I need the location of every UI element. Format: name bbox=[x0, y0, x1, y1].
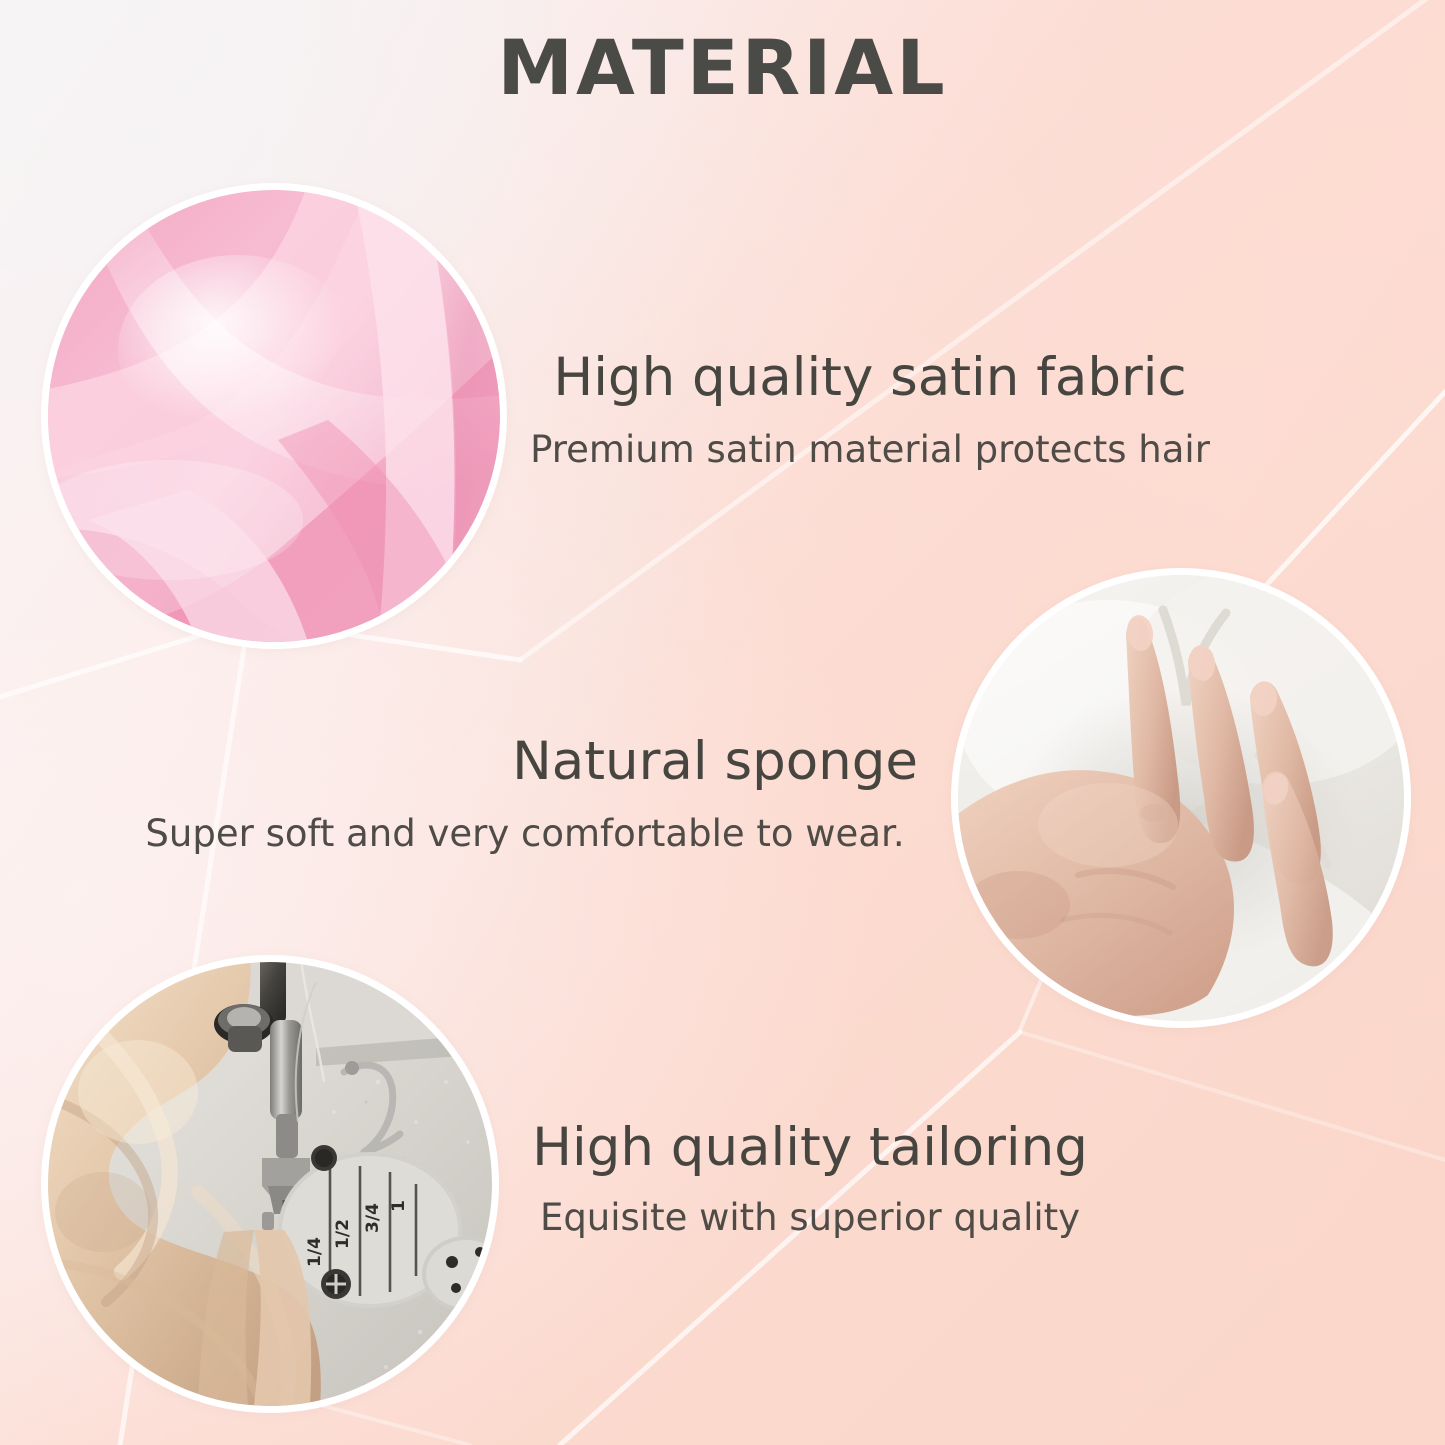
feature-text-natural-sponge: Natural sponge Super soft and very comfo… bbox=[120, 732, 930, 857]
feature-title-natural-sponge: Natural sponge bbox=[120, 732, 930, 792]
sewing-machine-illustration: 1 3/4 1/2 1/4 bbox=[48, 962, 492, 1406]
feature-text-tailoring: High quality tailoring Equisite with sup… bbox=[470, 1118, 1150, 1241]
feature-subtitle-satin-fabric: Premium satin material protects hair bbox=[520, 428, 1220, 472]
feature-text-satin-fabric: High quality satin fabric Premium satin … bbox=[520, 348, 1220, 473]
feature-subtitle-natural-sponge: Super soft and very comfortable to wear. bbox=[120, 812, 930, 856]
sewing-machine-photo: 1 3/4 1/2 1/4 bbox=[48, 962, 492, 1406]
feature-subtitle-tailoring: Equisite with superior quality bbox=[470, 1196, 1150, 1240]
sponge-hand-photo bbox=[958, 575, 1404, 1021]
feature-image-tailoring: 1 3/4 1/2 1/4 bbox=[48, 962, 492, 1406]
svg-text:3/4: 3/4 bbox=[363, 1203, 383, 1233]
satin-fabric-photo bbox=[48, 190, 500, 642]
svg-text:1/4: 1/4 bbox=[305, 1237, 325, 1267]
feature-image-satin-fabric bbox=[48, 190, 500, 642]
svg-text:1/2: 1/2 bbox=[333, 1219, 353, 1249]
feature-title-satin-fabric: High quality satin fabric bbox=[520, 348, 1220, 408]
feature-title-tailoring: High quality tailoring bbox=[470, 1118, 1150, 1178]
feature-image-natural-sponge bbox=[958, 575, 1404, 1021]
page-title: MATERIAL bbox=[0, 28, 1445, 108]
hand-on-foam-illustration bbox=[958, 575, 1404, 1021]
satin-fabric-illustration bbox=[48, 190, 500, 642]
svg-text:1: 1 bbox=[389, 1200, 409, 1212]
material-feature-panel: MATERIAL bbox=[0, 0, 1445, 1445]
